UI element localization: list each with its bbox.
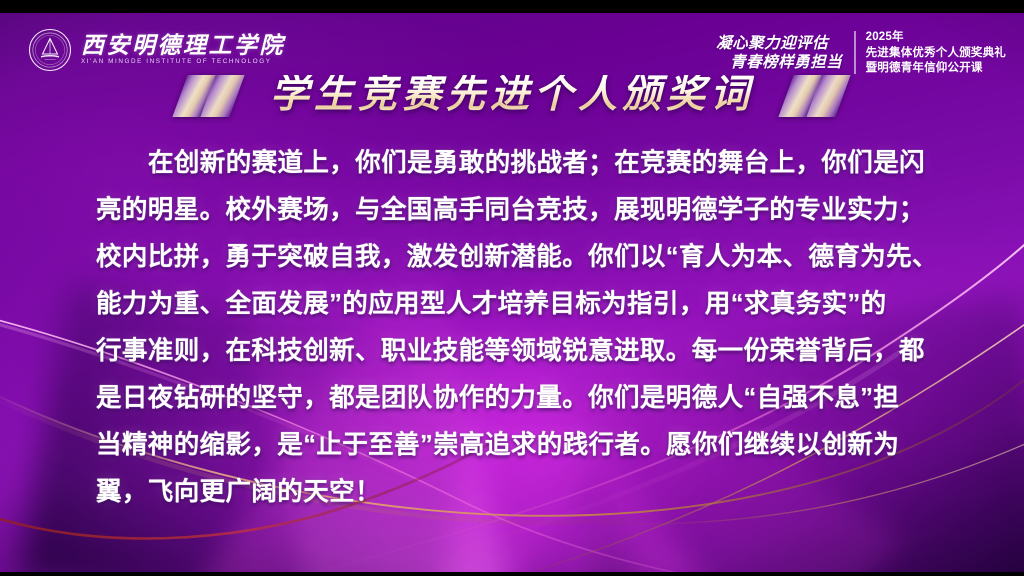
letterbox-top (0, 0, 1024, 13)
page-title: 学生竞赛先进个人颁奖词 (270, 75, 754, 114)
school-name-block: 西安明德理工学院 XI'AN MINGDE INSTITUTE OF TECHN… (81, 34, 285, 65)
school-name-cn: 西安明德理工学院 (81, 34, 285, 57)
parallelogram-ornament-left-icon (172, 69, 248, 119)
event-slogan-line-1: 凝心聚力迎评估 (716, 36, 842, 52)
citation-line: 校内比拼，勇于突破自我，激发创新潜能。你们以“育人为本、德育为先、 (96, 234, 936, 281)
parallelogram-ornament-right-icon (776, 69, 852, 119)
title-row: 学生竞赛先进个人颁奖词 (0, 62, 1024, 126)
citation-line: 当精神的缩影，是“止于至善”崇高追求的践行者。愿你们继续以创新为 (96, 422, 936, 469)
citation-line: 行事准则，在科技创新、职业技能等领域锐意进取。每一份荣誉背后，都 (96, 328, 936, 375)
letterbox-bottom (0, 572, 1024, 576)
citation-line: 在创新的赛道上，你们是勇敢的挑战者；在竞赛的舞台上，你们是闪 (96, 140, 936, 187)
citation-body: 在创新的赛道上，你们是勇敢的挑战者；在竞赛的舞台上，你们是闪 亮的明星。校外赛场… (96, 140, 936, 516)
slide-canvas: 西安明德理工学院 XI'AN MINGDE INSTITUTE OF TECHN… (0, 0, 1024, 576)
citation-line: 是日夜钻研的坚守，都是团队协作的力量。你们是明德人“自强不息”担 (96, 375, 936, 422)
event-name: 先进集体优秀个人颁奖典礼 (866, 46, 1006, 61)
citation-line: 翼，飞向更广阔的天空！ (96, 469, 936, 516)
citation-line: 能力为重、全面发展”的应用型人才培养目标为指引，用“求真务实”的 (96, 281, 936, 328)
event-year: 2025年 (866, 30, 1006, 45)
citation-line: 亮的明星。校外赛场，与全国高手同台竞技，展现明德学子的专业实力； (96, 187, 936, 234)
